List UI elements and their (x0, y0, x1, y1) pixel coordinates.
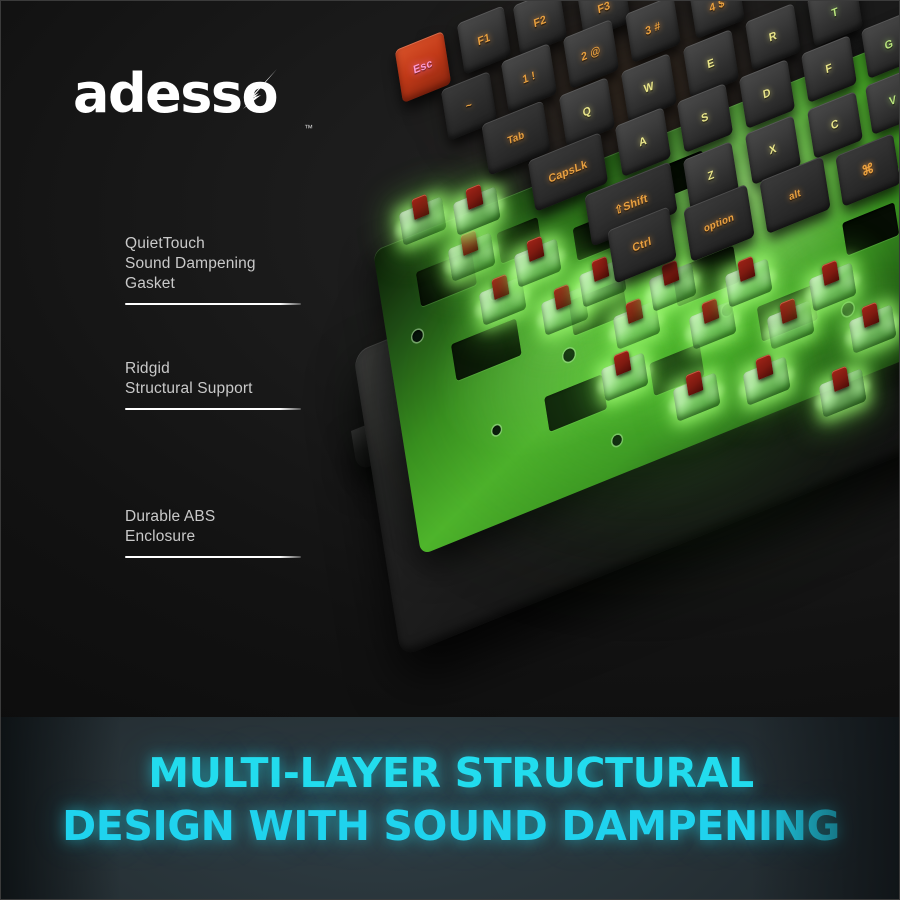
callout-line-1: Durable ABS (125, 507, 335, 527)
brand-logo-text: adesso (73, 67, 323, 121)
callout-line-3: Gasket (125, 274, 335, 294)
callout-enclosure: Durable ABS Enclosure (125, 507, 335, 558)
headline-banner: MULTI-LAYER STRUCTURAL DESIGN WITH SOUND… (1, 717, 900, 900)
callout-structural-support: Ridgid Structural Support (125, 359, 335, 410)
headline-line-2: DESIGN WITH SOUND DAMPENING (1, 800, 900, 853)
callout-line-1: Ridgid (125, 359, 335, 379)
callout-line-2: Enclosure (125, 527, 335, 547)
trademark-symbol: ™ (304, 123, 313, 133)
callout-leader-line (125, 408, 301, 410)
callout-line-2: Sound Dampening (125, 254, 335, 274)
callout-line-2: Structural Support (125, 379, 335, 399)
brand-logo: adesso ™ (73, 67, 323, 137)
keycap-2: 2 @ (563, 19, 619, 89)
keycap-r: R (745, 3, 801, 71)
callout-gasket: QuietTouch Sound Dampening Gasket (125, 234, 335, 305)
callout-leader-line (125, 556, 301, 558)
product-feature-image: Esc F1 F2 F3 ~ 1 ! 2 @ 3 # 4 $ Tab Q W E… (0, 0, 900, 900)
headline-line-1: MULTI-LAYER STRUCTURAL (1, 747, 900, 800)
callout-line-1: QuietTouch (125, 234, 335, 254)
callout-leader-line (125, 303, 301, 305)
keycap-3: 3 # (625, 1, 681, 63)
